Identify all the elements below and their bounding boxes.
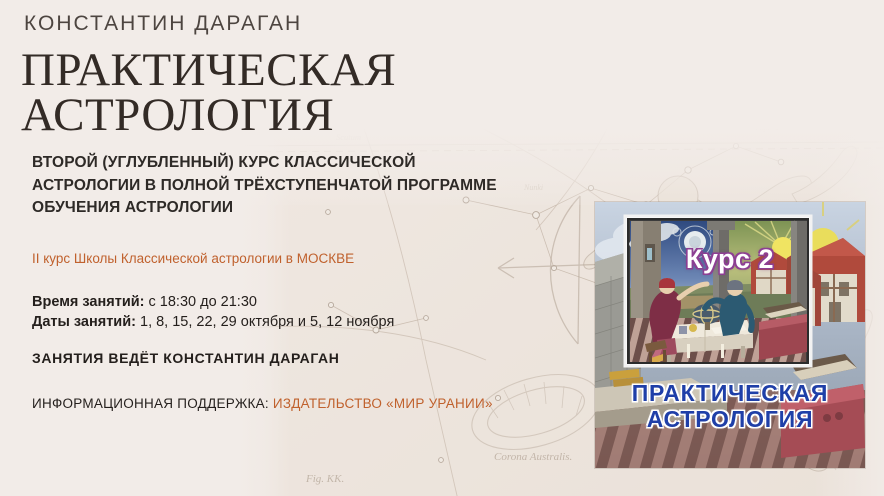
author-name: КОНСТАНТИН ДАРАГАН — [24, 12, 302, 36]
detail-label-dates: Даты занятий: — [32, 314, 136, 330]
text-column: КОНСТАНТИН ДАРАГАН ПРАКТИЧЕСКАЯ АСТРОЛОГ… — [0, 0, 600, 496]
support-line: ИНФОРМАЦИОННАЯ ПОДДЕРЖКА: ИЗДАТЕЛЬСТВО «… — [32, 396, 493, 411]
support-label: ИНФОРМАЦИОННАЯ ПОДДЕРЖКА: — [32, 396, 269, 411]
book-cover-image: Курс 2 ПРАКТИЧЕСКАЯ АСТРОЛОГИЯ — [595, 202, 865, 468]
detail-label-time: Время занятий: — [32, 294, 144, 310]
slide-root: SAGITTARIUS. Antinous Corona Australis. … — [0, 0, 884, 496]
support-publisher: ИЗДАТЕЛЬСТВО «МИР УРАНИИ» — [273, 396, 493, 411]
detail-value-time: с 18:30 до 21:30 — [149, 294, 257, 310]
page-title: ПРАКТИЧЕСКАЯ АСТРОЛОГИЯ — [21, 48, 396, 138]
course-location-line: II курс Школы Классической астрологии в … — [32, 251, 354, 266]
detail-value-dates: 1, 8, 15, 22, 29 октября и 5, 12 ноября — [140, 314, 394, 330]
detail-row-time: Время занятий: с 18:30 до 21:30 — [32, 292, 394, 312]
course-subtitle: ВТОРОЙ (УГЛУБЛЕННЫЙ) КУРС КЛАССИЧЕСКОЙ А… — [32, 152, 572, 220]
detail-row-dates: Даты занятий: 1, 8, 15, 22, 29 октября и… — [32, 312, 394, 332]
schedule-details: Время занятий: с 18:30 до 21:30 Даты зан… — [32, 292, 394, 332]
teacher-line: ЗАНЯТИЯ ВЕДЁТ КОНСТАНТИН ДАРАГАН — [32, 350, 339, 366]
